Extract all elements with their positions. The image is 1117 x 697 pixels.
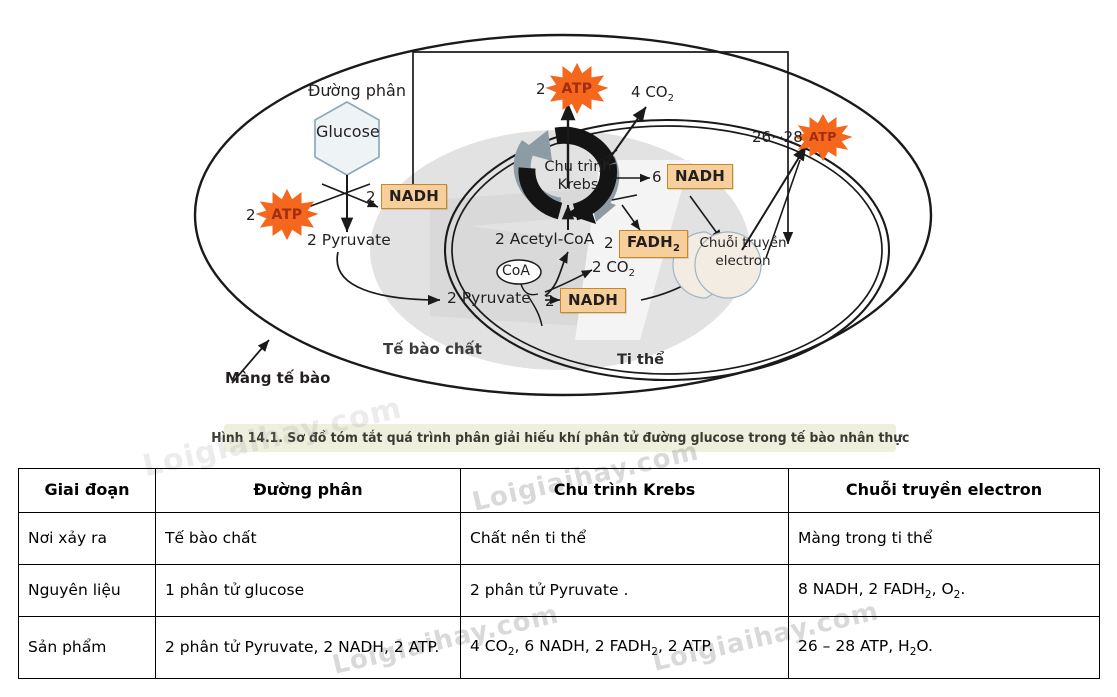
label-cell-membrane: Màng tế bào bbox=[225, 370, 330, 387]
table-row: Sản phẩm 2 phân tử Pyruvate, 2 NADH, 2 A… bbox=[19, 617, 1100, 679]
atp-star-krebs-label: ATP bbox=[561, 81, 592, 97]
row-inputs-glycolysis: 1 phân tử glucose bbox=[156, 565, 461, 617]
label-coa: CoA bbox=[502, 263, 530, 279]
row-inputs-etc-pre: 8 NADH, 2 FADH bbox=[798, 580, 925, 598]
row-products-stage: Sản phẩm bbox=[19, 617, 156, 679]
row-products-krebs-pre: 4 CO bbox=[470, 637, 508, 655]
label-etc-line2: electron bbox=[697, 254, 789, 270]
row-location-etc: Màng trong ti thể bbox=[789, 513, 1100, 565]
figure-caption-text: Hình 14.1. Sơ đồ tóm tắt quá trình phân … bbox=[211, 431, 909, 446]
co2-krebs-formula: CO bbox=[645, 83, 667, 101]
table-header-glycolysis: Đường phân bbox=[156, 469, 461, 513]
row-products-krebs-sub1: 2 bbox=[508, 646, 515, 658]
nadh-glycolysis-box: NADH bbox=[381, 184, 447, 209]
co2-pyruvate-count: 2 CO2 bbox=[592, 258, 635, 279]
diagram-canvas: ATP ATP ATP bbox=[0, 0, 1117, 415]
row-inputs-etc-sub1: 2 bbox=[925, 589, 932, 601]
row-location-glycolysis: Tế bào chất bbox=[156, 513, 461, 565]
row-inputs-krebs: 2 phân tử Pyruvate . bbox=[461, 565, 789, 617]
label-glycolysis: Đường phân bbox=[308, 82, 406, 100]
label-acetyl-coa: 2 Acetyl-CoA bbox=[495, 231, 594, 249]
figure-caption: Hình 14.1. Sơ đồ tóm tắt quá trình phân … bbox=[224, 424, 896, 452]
figure-diagram: ATP ATP ATP Đường phân Glucose 2 Pyruvat… bbox=[0, 0, 1117, 415]
row-products-etc-post: O. bbox=[916, 637, 933, 655]
page-root: ATP ATP ATP Đường phân Glucose 2 Pyruvat… bbox=[0, 0, 1117, 697]
atp-etc-count: 26~28 bbox=[752, 128, 803, 146]
co2-krebs-count: 4 CO2 bbox=[631, 83, 674, 104]
fadh2-sub: 2 bbox=[673, 243, 680, 254]
co2-pyruvate-formula: CO bbox=[606, 258, 628, 276]
nadh-glycolysis-count: 2 bbox=[366, 188, 376, 206]
nadh-pyruvate-box: NADH bbox=[560, 288, 626, 313]
co2-krebs-count-value: 4 bbox=[631, 83, 641, 101]
label-pyruvate-mitochondria: 2 Pyruvate bbox=[447, 290, 531, 308]
atp-glycolysis-count: 2 bbox=[246, 206, 256, 224]
nadh-pyruvate-count: 2 bbox=[545, 292, 555, 310]
table-row: Nơi xảy ra Tế bào chất Chất nền ti thể M… bbox=[19, 513, 1100, 565]
label-krebs-line2: Krebs bbox=[543, 177, 613, 194]
label-glucose: Glucose bbox=[316, 123, 380, 141]
co2-pyruvate-sub: 2 bbox=[629, 268, 635, 279]
row-location-krebs: Chất nền ti thể bbox=[461, 513, 789, 565]
row-products-etc-pre: 26 – 28 ATP, H bbox=[798, 637, 910, 655]
summary-table: Giai đoạn Đường phân Chu trình Krebs Chu… bbox=[18, 468, 1100, 679]
fadh2-box: FADH2 bbox=[619, 230, 688, 258]
co2-pyruvate-count-value: 2 bbox=[592, 258, 602, 276]
row-products-krebs-mid: , 6 NADH, 2 FADH bbox=[515, 637, 652, 655]
row-inputs-etc-mid: , O bbox=[932, 580, 954, 598]
nadh-krebs-count: 6 bbox=[652, 168, 662, 186]
table-header-krebs: Chu trình Krebs bbox=[461, 469, 789, 513]
row-inputs-etc-post: . bbox=[960, 580, 965, 598]
label-cytoplasm: Tế bào chất bbox=[383, 341, 482, 358]
nadh-krebs-box: NADH bbox=[667, 164, 733, 189]
table-header-stage: Giai đoạn bbox=[19, 469, 156, 513]
row-location-stage: Nơi xảy ra bbox=[19, 513, 156, 565]
row-inputs-stage: Nguyên liệu bbox=[19, 565, 156, 617]
fadh2-formula: FADH bbox=[627, 233, 673, 251]
label-mitochondria: Ti thể bbox=[617, 352, 664, 369]
row-products-krebs: 4 CO2, 6 NADH, 2 FADH2, 2 ATP. bbox=[461, 617, 789, 679]
label-krebs-line1: Chu trình bbox=[543, 159, 613, 176]
fadh2-count: 2 bbox=[604, 234, 614, 252]
row-products-etc: 26 – 28 ATP, H2O. bbox=[789, 617, 1100, 679]
atp-star-glycolysis-label: ATP bbox=[271, 207, 302, 223]
atp-krebs-count: 2 bbox=[536, 80, 546, 98]
co2-krebs-sub: 2 bbox=[668, 93, 674, 104]
table-header-etc: Chuỗi truyền electron bbox=[789, 469, 1100, 513]
row-products-krebs-sub2: 2 bbox=[651, 646, 658, 658]
label-pyruvate-cytoplasm: 2 Pyruvate bbox=[307, 232, 391, 250]
label-etc-line1: Chuỗi truyền bbox=[697, 236, 789, 252]
row-inputs-etc: 8 NADH, 2 FADH2, O2. bbox=[789, 565, 1100, 617]
table-header-row: Giai đoạn Đường phân Chu trình Krebs Chu… bbox=[19, 469, 1100, 513]
atp-star-krebs: ATP bbox=[547, 64, 607, 113]
row-products-krebs-post: , 2 ATP. bbox=[658, 637, 713, 655]
table-row: Nguyên liệu 1 phân tử glucose 2 phân tử … bbox=[19, 565, 1100, 617]
row-products-glycolysis: 2 phân tử Pyruvate, 2 NADH, 2 ATP. bbox=[156, 617, 461, 679]
atp-star-etc-label: ATP bbox=[809, 129, 837, 144]
